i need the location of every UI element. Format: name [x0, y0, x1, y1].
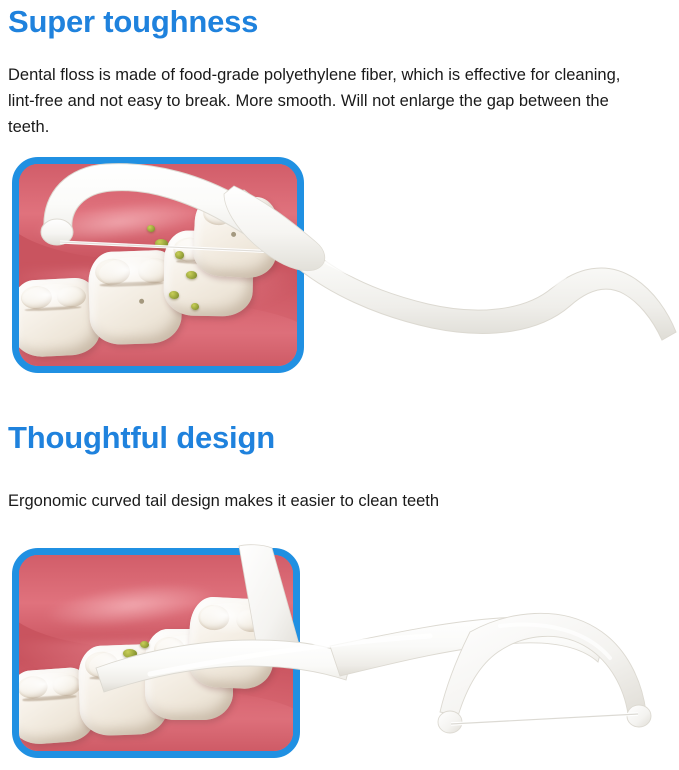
- tooth-molar-2d: [187, 596, 277, 690]
- section-body-thoughtful-design: Ergonomic curved tail design makes it ea…: [8, 488, 628, 514]
- illustration-clip-2: [19, 555, 293, 751]
- pick-shaft-2: [330, 617, 604, 676]
- tooth-molar-1d: [192, 194, 280, 279]
- illustration-frame-super-toughness: [12, 157, 304, 373]
- pick-fork-tip-left-2: [438, 711, 462, 733]
- section-heading-super-toughness: Super toughness: [8, 4, 258, 40]
- food-debris-2b: [109, 663, 120, 671]
- pick-fork-tip-right-2: [627, 705, 651, 727]
- food-debris-1c: [186, 271, 197, 279]
- illustration-clip-1: [19, 164, 297, 366]
- food-debris-2a: [123, 649, 137, 658]
- food-debris-1b: [175, 251, 184, 259]
- section-heading-thoughtful-design: Thoughtful design: [8, 420, 275, 456]
- food-debris-1d: [169, 291, 179, 299]
- floss-string-2: [451, 714, 638, 724]
- pick-highlight-arch-2: [500, 624, 610, 658]
- product-feature-page: Super toughness Dental floss is made of …: [0, 0, 679, 770]
- food-debris-1a: [155, 239, 168, 248]
- section-body-super-toughness: Dental floss is made of food-grade polye…: [8, 62, 628, 140]
- illustration-frame-thoughtful-design: [12, 548, 300, 758]
- food-debris-2c: [140, 641, 149, 648]
- food-debris-1f: [147, 225, 155, 232]
- pick-fork-arch-2: [440, 613, 646, 716]
- pick-highlight-1: [328, 262, 564, 300]
